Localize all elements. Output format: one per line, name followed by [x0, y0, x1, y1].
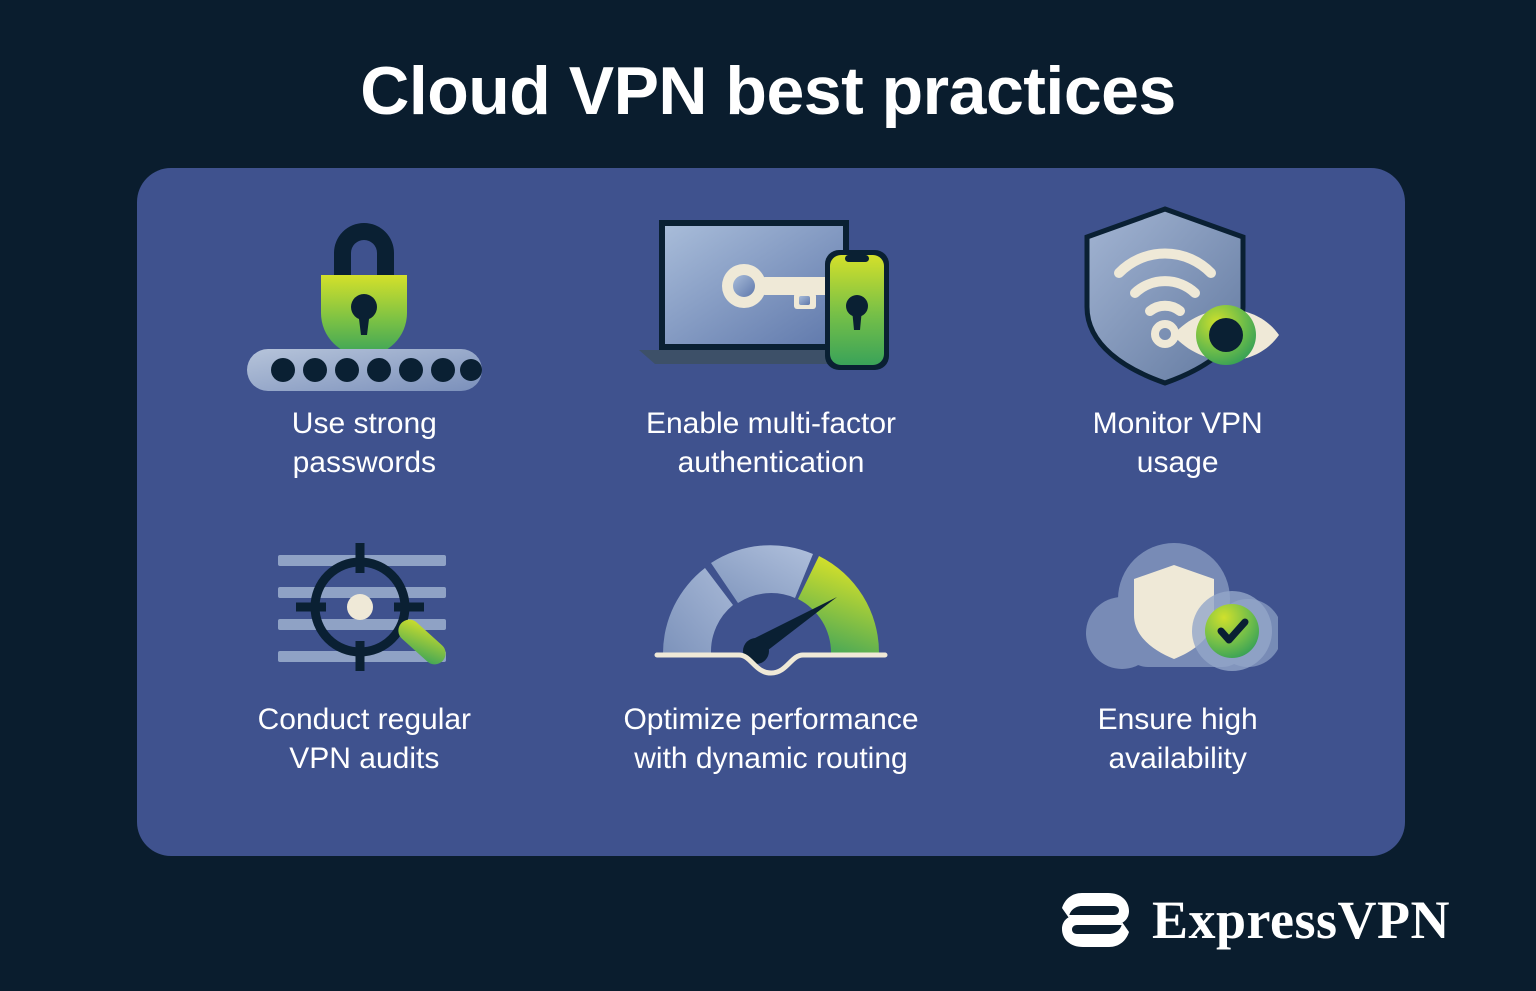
practice-label: Enable multi-factor authentication: [646, 404, 896, 482]
expressvpn-logo[interactable]: ExpressVPN: [1058, 889, 1450, 951]
crosshair-magnifier-icon-wrap: [264, 514, 464, 694]
speedometer-icon: [651, 529, 891, 679]
best-practices-card: Use strong passwords: [137, 168, 1405, 856]
cloud-shield-check-icon: [1078, 529, 1278, 679]
practices-grid: Use strong passwords: [137, 168, 1405, 856]
expressvpn-e-mark-icon: [1058, 889, 1134, 951]
practice-label: Conduct regular VPN audits: [258, 700, 471, 778]
practice-label: Ensure high availability: [1098, 700, 1258, 778]
page-title: Cloud VPN best practices: [0, 54, 1536, 129]
practice-label: Optimize performance with dynamic routin…: [623, 700, 918, 778]
expressvpn-logo-text: ExpressVPN: [1152, 893, 1450, 947]
laptop-phone-key-icon: [631, 208, 911, 388]
shield-wifi-eye-icon-wrap: [1073, 198, 1283, 398]
practice-item-optimize-performance[interactable]: Optimize performance with dynamic routin…: [568, 514, 975, 830]
speedometer-icon-wrap: [651, 514, 891, 694]
padlock-password-icon-wrap: [239, 198, 489, 398]
practice-label: Use strong passwords: [292, 404, 437, 482]
practice-item-monitor-vpn-usage[interactable]: Monitor VPN usage: [974, 198, 1381, 514]
practice-label: Monitor VPN usage: [1093, 404, 1263, 482]
practice-item-use-strong-passwords[interactable]: Use strong passwords: [161, 198, 568, 514]
crosshair-magnifier-icon: [264, 529, 464, 679]
padlock-password-icon: [239, 203, 489, 393]
cloud-shield-check-icon-wrap: [1078, 514, 1278, 694]
practice-item-conduct-regular-vpn-audits[interactable]: Conduct regular VPN audits: [161, 514, 568, 830]
practice-item-enable-mfa[interactable]: Enable multi-factor authentication: [568, 198, 975, 514]
laptop-phone-key-icon-wrap: [631, 198, 911, 398]
practice-item-ensure-high-availability[interactable]: Ensure high availability: [974, 514, 1381, 830]
shield-wifi-eye-icon: [1073, 203, 1283, 393]
